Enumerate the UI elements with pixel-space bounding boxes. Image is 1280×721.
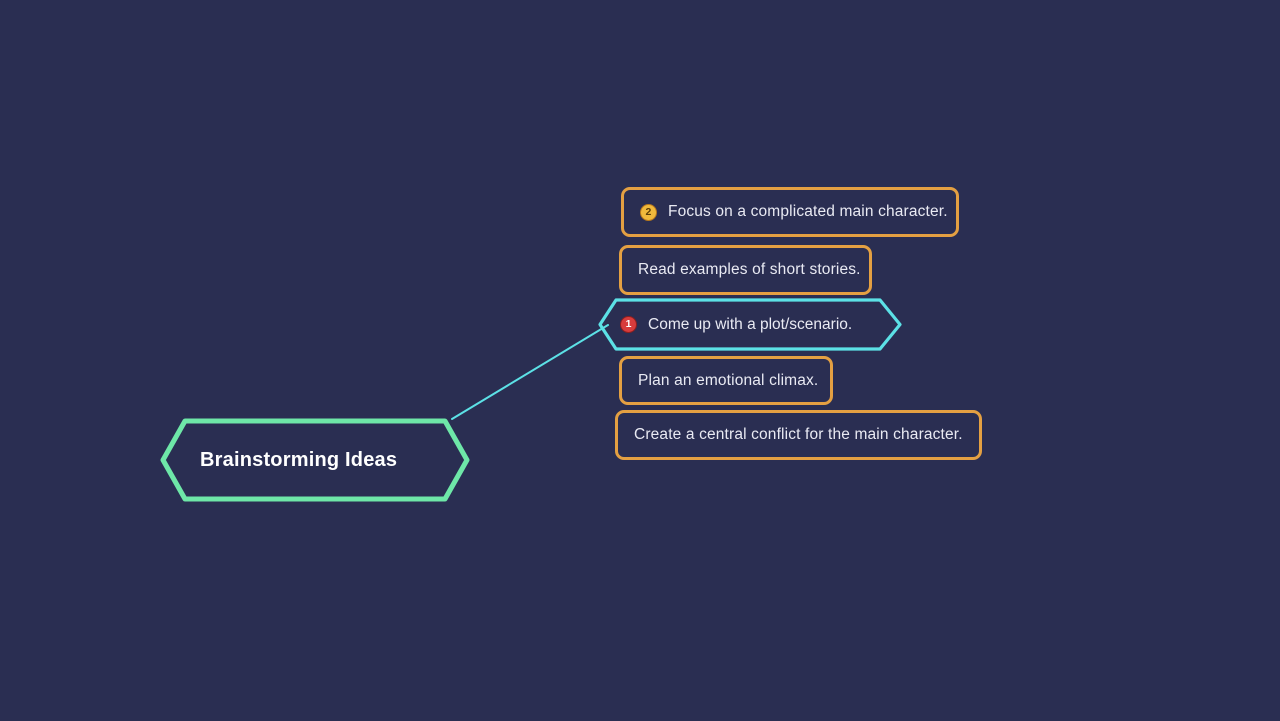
node-label-focus-main-character: Focus on a complicated main character. (668, 203, 948, 221)
node-label-plot-scenario: Come up with a plot/scenario. (648, 316, 852, 334)
node-badge-1: 1 (620, 316, 637, 333)
node-badge-2: 2 (640, 204, 657, 221)
root-node-label: Brainstorming Ideas (200, 449, 397, 472)
connector-root-to-plot (452, 325, 608, 419)
node-label-read-examples: Read examples of short stories. (638, 261, 861, 279)
mindmap-node-focus-main-character[interactable]: 2 Focus on a complicated main character. (621, 187, 959, 237)
node-label-central-conflict: Create a central conflict for the main c… (634, 426, 963, 444)
mindmap-node-emotional-climax[interactable]: Plan an emotional climax. (619, 356, 833, 405)
mindmap-node-central-conflict[interactable]: Create a central conflict for the main c… (615, 410, 982, 460)
mindmap-canvas[interactable]: Brainstorming Ideas 2 Focus on a complic… (0, 0, 1280, 721)
mindmap-node-root[interactable]: Brainstorming Ideas (160, 418, 470, 502)
mindmap-node-plot-scenario[interactable]: 1 Come up with a plot/scenario. (598, 298, 902, 351)
node-label-emotional-climax: Plan an emotional climax. (638, 372, 818, 390)
mindmap-node-read-examples[interactable]: Read examples of short stories. (619, 245, 872, 295)
